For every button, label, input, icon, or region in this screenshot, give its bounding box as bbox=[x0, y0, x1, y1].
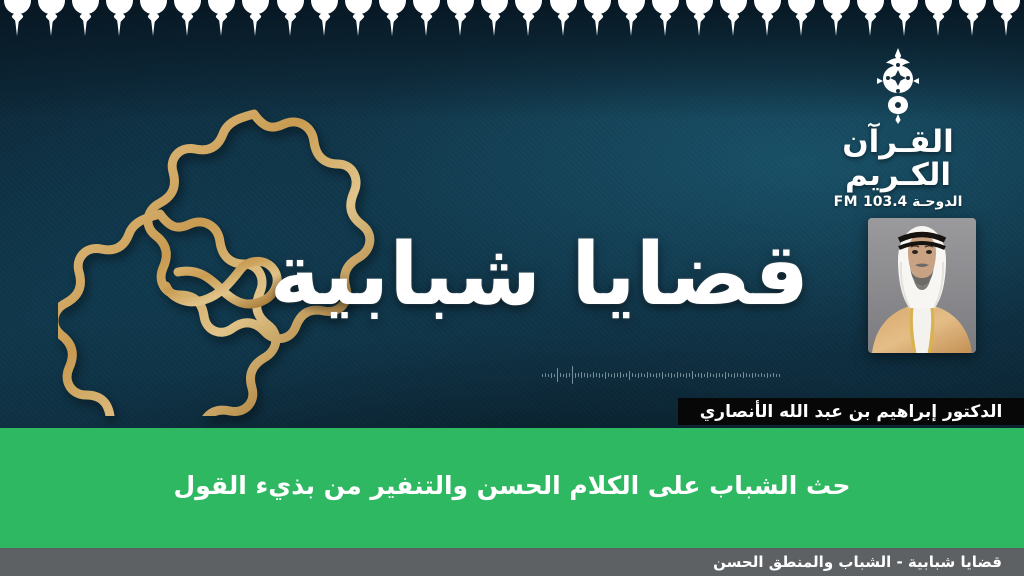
arabesque-finial-icon bbox=[871, 48, 925, 124]
station-frequency: الدوحـة 103.4 FM bbox=[808, 194, 988, 210]
speaker-name-bar: الدكتور إبراهيم بن عبد الله الأنصاري bbox=[678, 398, 1024, 425]
audio-waveform-icon bbox=[542, 364, 872, 386]
program-title: قضايا شبابية bbox=[270, 232, 809, 318]
lower-third-headline: حث الشباب على الكلام الحسن والتنفير من ب… bbox=[174, 471, 851, 506]
lower-third-banner: حث الشباب على الكلام الحسن والتنفير من ب… bbox=[0, 428, 1024, 548]
speaker-name: الدكتور إبراهيم بن عبد الله الأنصاري bbox=[700, 402, 1003, 422]
station-wordmark: القـرآن الكـريم bbox=[808, 126, 988, 191]
broadcast-frame: قضايا شبابية bbox=[0, 0, 1024, 576]
station-logo: القـرآن الكـريم الدوحـة 103.4 FM bbox=[808, 48, 988, 210]
ticker-text: قضايا شبابية - الشباب والمنطق الحسن bbox=[713, 553, 1024, 571]
ticker-bar: قضايا شبابية - الشباب والمنطق الحسن bbox=[0, 548, 1024, 576]
speaker-portrait-icon bbox=[868, 218, 976, 353]
